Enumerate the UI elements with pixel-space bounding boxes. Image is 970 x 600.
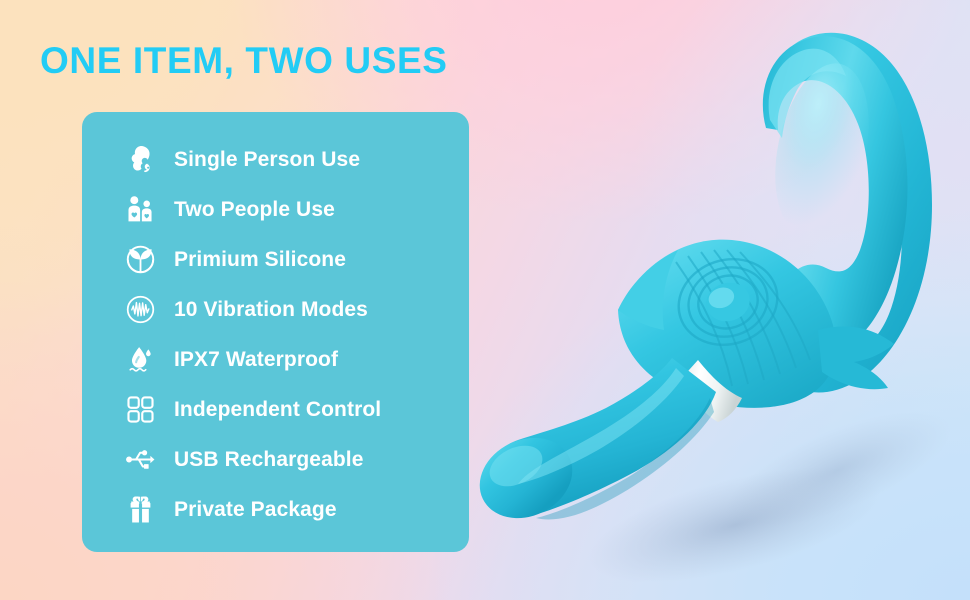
page-title: ONE ITEM, TWO USES: [40, 42, 448, 79]
feature-label: 10 Vibration Modes: [174, 299, 368, 320]
water-drop-icon: [123, 342, 157, 376]
feature-label: Independent Control: [174, 399, 381, 420]
feature-card: Single Person Use Two People Use: [82, 112, 469, 552]
feature-list: Single Person Use Two People Use: [82, 134, 469, 534]
feature-item-primium-silicone: Primium Silicone: [82, 234, 469, 284]
leaf-sphere-icon: [123, 242, 157, 276]
feature-label: Single Person Use: [174, 149, 360, 170]
feature-item-private-package: Private Package: [82, 484, 469, 534]
feature-label: USB Rechargeable: [174, 449, 364, 470]
gift-box-icon: [123, 492, 157, 526]
feature-label: Two People Use: [174, 199, 335, 220]
two-people-icon: [123, 192, 157, 226]
feature-label: IPX7 Waterproof: [174, 349, 338, 370]
feature-label: Primium Silicone: [174, 249, 346, 270]
feature-item-two-people-use: Two People Use: [82, 184, 469, 234]
woman-silhouette-icon: [123, 142, 157, 176]
feature-item-vibration-modes: 10 Vibration Modes: [82, 284, 469, 334]
feature-label: Private Package: [174, 499, 337, 520]
product-image: [470, 0, 970, 600]
four-squares-grid-icon: [123, 392, 157, 426]
feature-item-single-person-use: Single Person Use: [82, 134, 469, 184]
product-feature-banner: ONE ITEM, TWO USES Single Person Use: [0, 0, 970, 600]
waveform-circle-icon: [123, 292, 157, 326]
usb-icon: [123, 442, 157, 476]
feature-item-independent-control: Independent Control: [82, 384, 469, 434]
feature-item-usb-rechargeable: USB Rechargeable: [82, 434, 469, 484]
feature-item-ipx7-waterproof: IPX7 Waterproof: [82, 334, 469, 384]
